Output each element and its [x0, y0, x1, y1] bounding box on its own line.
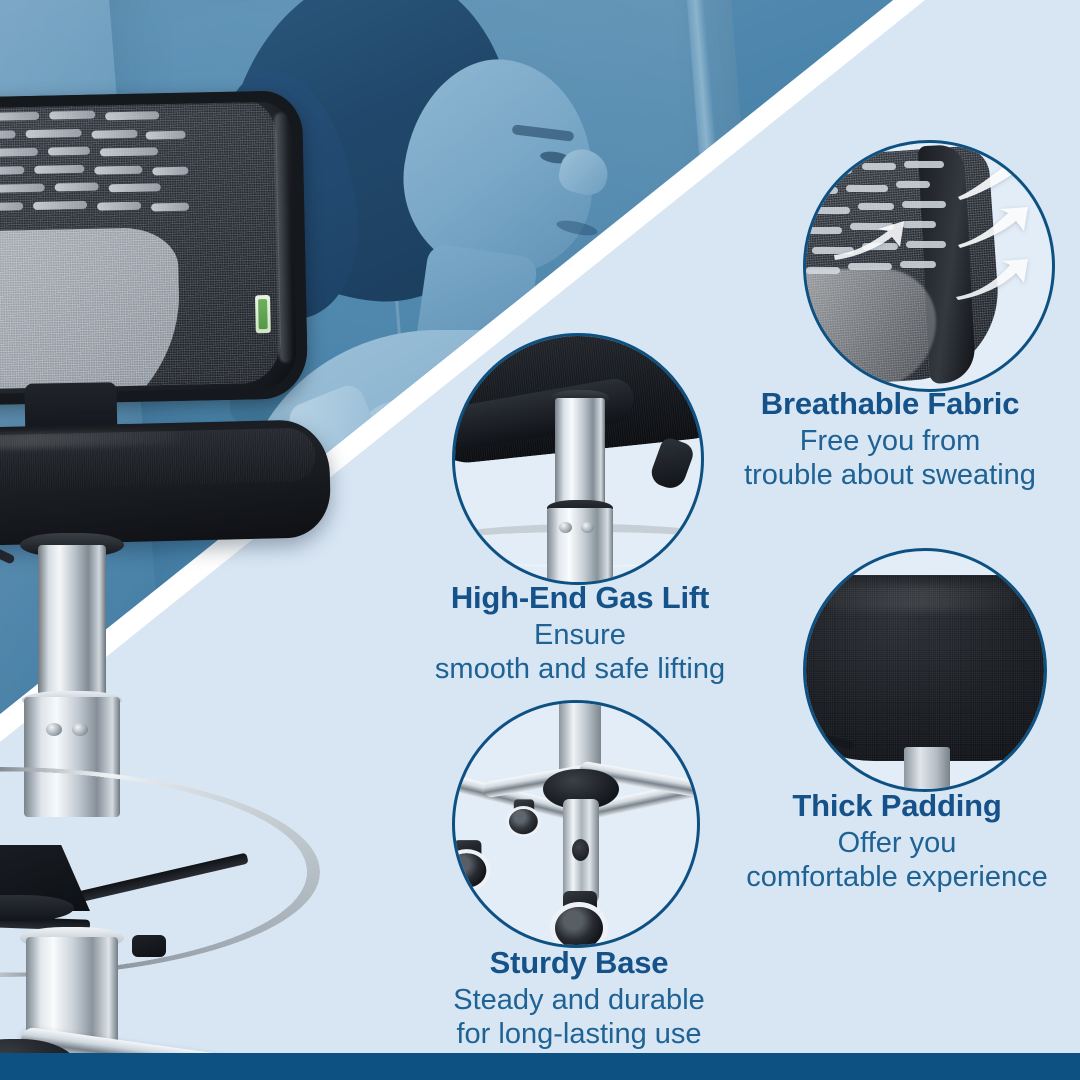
chair-seat — [0, 419, 331, 549]
feature-inset-gas-lift — [452, 333, 704, 585]
feature-text-sturdy-base: Sturdy Base Steady and durable for long-… — [388, 943, 770, 1051]
inset-caster-wheel — [452, 853, 486, 887]
inset-cushion-highlight — [826, 585, 1016, 611]
chair-gas-cylinder-upper — [38, 545, 106, 705]
feature-subtitle-line: comfortable experience — [712, 860, 1080, 894]
airflow-arrow-icon — [956, 205, 1042, 249]
feature-subtitle-line: Free you from — [700, 424, 1080, 458]
feature-subtitle: Free you from trouble about sweating — [700, 424, 1080, 492]
feature-title: High-End Gas Lift — [390, 578, 770, 618]
inset-gas-cylinder-lower — [547, 508, 613, 585]
feature-title: Thick Padding — [712, 786, 1080, 826]
chair-gas-bolt — [46, 723, 62, 736]
feature-text-gas-lift: High-End Gas Lift Ensure smooth and safe… — [390, 578, 770, 686]
feature-text-breathable-fabric: Breathable Fabric Free you from trouble … — [700, 384, 1080, 492]
feature-text-thick-padding: Thick Padding Offer you comfortable expe… — [712, 786, 1080, 894]
feature-subtitle: Offer you comfortable experience — [712, 826, 1080, 894]
feature-title: Sturdy Base — [388, 943, 770, 983]
feature-inset-sturdy-base — [452, 700, 700, 948]
chair-backrest-frame — [0, 90, 308, 407]
chair-gas-bolt — [72, 723, 88, 736]
inset-lever-knob — [648, 436, 696, 493]
feature-inset-thick-padding — [803, 548, 1047, 792]
inset-caster-wheel — [555, 907, 603, 948]
airflow-arrow-icon — [956, 159, 1042, 201]
airflow-arrow-icon — [832, 219, 922, 263]
chair-footring-tab — [132, 935, 166, 957]
feature-subtitle: Ensure smooth and safe lifting — [390, 618, 770, 686]
footer-accent-bar — [0, 1053, 1080, 1080]
chair-backrest-shell — [0, 90, 308, 407]
feature-subtitle: Steady and durable for long-lasting use — [388, 983, 770, 1051]
inset-gas-cylinder-upper — [555, 398, 605, 514]
photo-marker-pen — [616, 261, 685, 319]
feature-subtitle-line: Ensure — [390, 618, 770, 652]
feature-subtitle-line: Steady and durable — [388, 983, 770, 1017]
feature-subtitle-line: for long-lasting use — [388, 1017, 770, 1051]
feature-subtitle-line: Offer you — [712, 826, 1080, 860]
feature-title: Breathable Fabric — [700, 384, 1080, 424]
feature-subtitle-line: smooth and safe lifting — [390, 652, 770, 686]
inset-caster-wheel — [509, 809, 538, 834]
airflow-arrow-icon — [954, 255, 1042, 301]
inset-gas-bolt — [559, 522, 572, 533]
infographic-canvas: Breathable Fabric Free you from trouble … — [0, 0, 1080, 1080]
feature-inset-breathable-fabric — [803, 140, 1055, 392]
feature-subtitle-line: trouble about sweating — [700, 458, 1080, 492]
chair-eco-label — [255, 295, 271, 333]
inset-gas-bolt — [581, 522, 594, 533]
